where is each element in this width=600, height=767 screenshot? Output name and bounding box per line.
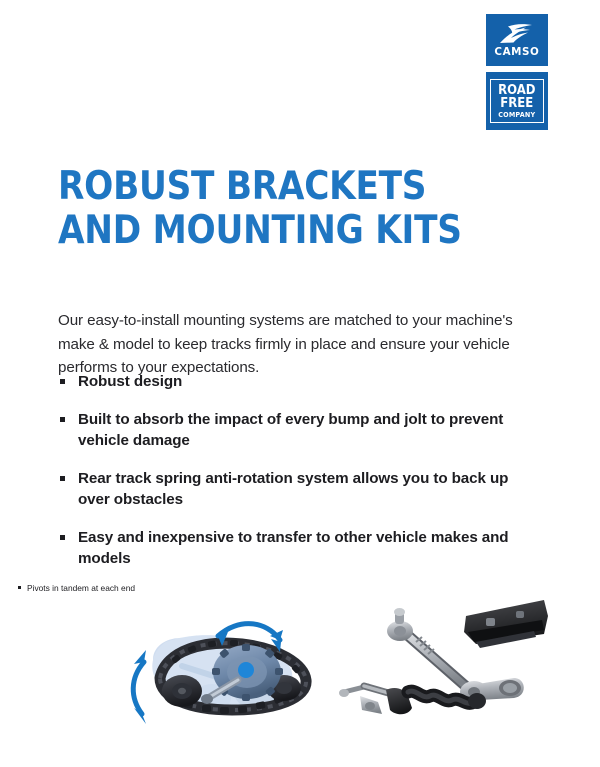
badge-line-company: COMPANY — [498, 112, 536, 119]
badge-line-free: FREE — [498, 97, 535, 110]
pivot-arrow-left — [133, 662, 144, 714]
brand-logo-stack: CAMSO ROAD FREE COMPANY — [486, 14, 548, 130]
footnote: Pivots in tandem at each end — [18, 583, 135, 594]
rubber-track-pivot-diagram — [108, 606, 348, 738]
badge-line-road: ROAD — [498, 84, 535, 97]
idler-wheel-left — [162, 675, 202, 707]
list-item: Robust design — [58, 371, 528, 393]
sprocket-hub — [238, 662, 254, 678]
list-item-label: Built to absorb the impact of every bump… — [78, 409, 528, 452]
bracket-mounting-hardware-photo — [338, 598, 548, 728]
ball-joint-upper — [387, 608, 413, 641]
illustration-row — [0, 598, 600, 738]
footnote-label: Pivots in tandem at each end — [27, 583, 135, 593]
page-title-line-1: ROBUST BRACKETS — [58, 165, 472, 209]
square-bullet-icon — [60, 476, 65, 481]
square-bullet-icon — [60, 379, 65, 384]
square-bullet-icon — [18, 586, 21, 589]
camso-logo-tile: CAMSO — [486, 14, 548, 66]
list-item: Built to absorb the impact of every bump… — [58, 409, 528, 452]
square-bullet-icon — [60, 417, 65, 422]
page-title-line-2: AND MOUNTING KITS — [58, 209, 472, 253]
list-item-label: Rear track spring anti-rotation system a… — [78, 468, 528, 511]
page-title: ROBUST BRACKETS AND MOUNTING KITS — [58, 165, 472, 253]
list-item: Easy and inexpensive to transfer to othe… — [58, 527, 528, 570]
camso-wordmark: CAMSO — [495, 46, 540, 57]
list-item-label: Robust design — [78, 371, 528, 393]
black-rail-bracket — [464, 600, 548, 648]
road-free-company-badge: ROAD FREE COMPANY — [486, 72, 548, 130]
feature-bullet-list: Robust design Built to absorb the impact… — [58, 371, 528, 570]
badge-frame: ROAD FREE COMPANY — [490, 79, 544, 123]
list-item: Rear track spring anti-rotation system a… — [58, 468, 528, 511]
camso-swoosh-icon — [498, 23, 536, 45]
list-item-label: Easy and inexpensive to transfer to othe… — [78, 527, 528, 570]
intro-paragraph: Our easy-to-install mounting systems are… — [58, 309, 528, 380]
square-bullet-icon — [60, 535, 65, 540]
